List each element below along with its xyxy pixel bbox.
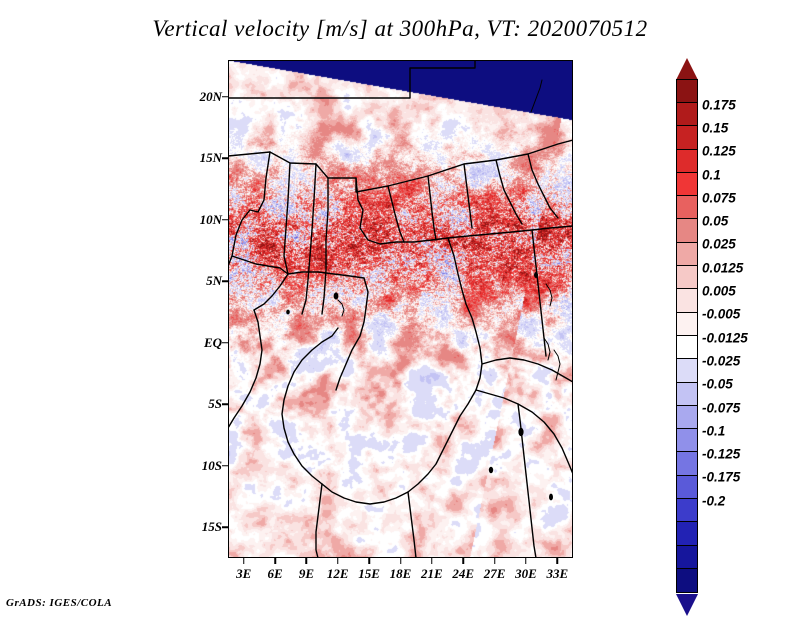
y-tick-mark xyxy=(222,465,228,467)
x-tick-label: 30E xyxy=(515,566,537,582)
y-tick-label: EQ xyxy=(204,335,222,351)
y-tick-mark xyxy=(222,96,228,98)
colorbar-tick-label: 0.0125 xyxy=(702,260,743,275)
colorbar-band xyxy=(676,521,698,546)
x-tick-mark xyxy=(368,558,370,564)
colorbar-tick-label: 0.175 xyxy=(702,97,736,112)
x-tick-label: 6E xyxy=(267,566,282,582)
colorbar-band xyxy=(676,242,698,267)
country-borders-overlay xyxy=(228,60,573,558)
y-tick-mark xyxy=(222,158,228,160)
colorbar-band xyxy=(676,265,698,290)
colorbar-band xyxy=(676,475,698,500)
y-tick-mark xyxy=(222,404,228,406)
colorbar-tick-label: 0.025 xyxy=(702,237,736,252)
colorbar-tick-label: 0.15 xyxy=(702,120,728,135)
x-tick-mark xyxy=(431,558,433,564)
y-tick-mark xyxy=(222,342,228,344)
x-tick-label: 21E xyxy=(421,566,443,582)
y-tick-mark xyxy=(222,527,228,529)
page-title: Vertical velocity [m/s] at 300hPa, VT: 2… xyxy=(0,16,800,42)
x-tick-label: 3E xyxy=(236,566,251,582)
colorbar-band xyxy=(676,498,698,523)
colorbar-tick-label: 0.075 xyxy=(702,190,736,205)
x-tick-mark xyxy=(337,558,339,564)
x-tick-mark xyxy=(274,558,276,564)
x-tick-label: 33E xyxy=(546,566,568,582)
colorbar-tick-label: 0.125 xyxy=(702,144,736,159)
colorbar-tick-label: -0.005 xyxy=(702,307,740,322)
x-tick-mark xyxy=(243,558,245,564)
colorbar-tick-label: 0.05 xyxy=(702,214,728,229)
x-tick-mark xyxy=(400,558,402,564)
colorbar-band xyxy=(676,195,698,220)
x-tick-label: 27E xyxy=(484,566,506,582)
y-tick-mark xyxy=(222,219,228,221)
colorbar-band xyxy=(676,451,698,476)
colorbar-tick-label: -0.075 xyxy=(702,400,740,415)
y-tick-label: 5S xyxy=(208,396,222,412)
colorbar-tick-label: -0.0125 xyxy=(702,330,748,345)
colorbar-tick-label: -0.175 xyxy=(702,470,740,485)
colorbar-band xyxy=(676,405,698,430)
colorbar-band xyxy=(676,568,698,593)
colorbar-tick-label: -0.05 xyxy=(702,377,733,392)
y-tick-label: 10S xyxy=(202,458,222,474)
y-tick-label: 10N xyxy=(200,212,222,228)
colorbar: 0.1750.150.1250.10.0750.050.0250.01250.0… xyxy=(676,58,796,563)
x-tick-mark xyxy=(462,558,464,564)
colorbar-tick-label: 0.1 xyxy=(702,167,721,182)
attribution-footer: GrADS: IGES/COLA xyxy=(6,597,112,609)
colorbar-band xyxy=(676,358,698,383)
colorbar-band xyxy=(676,218,698,243)
x-tick-label: 18E xyxy=(390,566,412,582)
x-tick-mark xyxy=(557,558,559,564)
colorbar-band xyxy=(676,382,698,407)
map-plot-area: 20N15N10N5NEQ5S10S15S 3E6E9E12E15E18E21E… xyxy=(228,60,573,558)
colorbar-cap-bottom-icon xyxy=(676,594,698,616)
x-tick-mark xyxy=(525,558,527,564)
x-tick-mark xyxy=(494,558,496,564)
colorbar-band xyxy=(676,79,698,104)
colorbar-band xyxy=(676,149,698,174)
x-tick-label: 24E xyxy=(452,566,474,582)
colorbar-band xyxy=(676,545,698,570)
colorbar-bands xyxy=(676,80,698,593)
colorbar-band xyxy=(676,428,698,453)
colorbar-band xyxy=(676,125,698,150)
y-tick-label: 15S xyxy=(202,519,222,535)
colorbar-band xyxy=(676,312,698,337)
colorbar-tick-label: -0.2 xyxy=(702,493,725,508)
colorbar-tick-label: 0.005 xyxy=(702,284,736,299)
x-tick-label: 9E xyxy=(299,566,314,582)
colorbar-tick-label: -0.1 xyxy=(702,423,725,438)
y-tick-mark xyxy=(222,281,228,283)
y-tick-label: 5N xyxy=(206,273,222,289)
colorbar-band xyxy=(676,335,698,360)
colorbar-band xyxy=(676,102,698,127)
x-tick-label: 15E xyxy=(358,566,380,582)
colorbar-cap-top-icon xyxy=(676,58,698,80)
colorbar-band xyxy=(676,172,698,197)
x-tick-mark xyxy=(306,558,308,564)
colorbar-tick-label: -0.125 xyxy=(702,447,740,462)
y-tick-label: 20N xyxy=(200,89,222,105)
colorbar-band xyxy=(676,288,698,313)
colorbar-tick-label: -0.025 xyxy=(702,353,740,368)
y-tick-label: 15N xyxy=(200,150,222,166)
x-tick-label: 12E xyxy=(327,566,349,582)
